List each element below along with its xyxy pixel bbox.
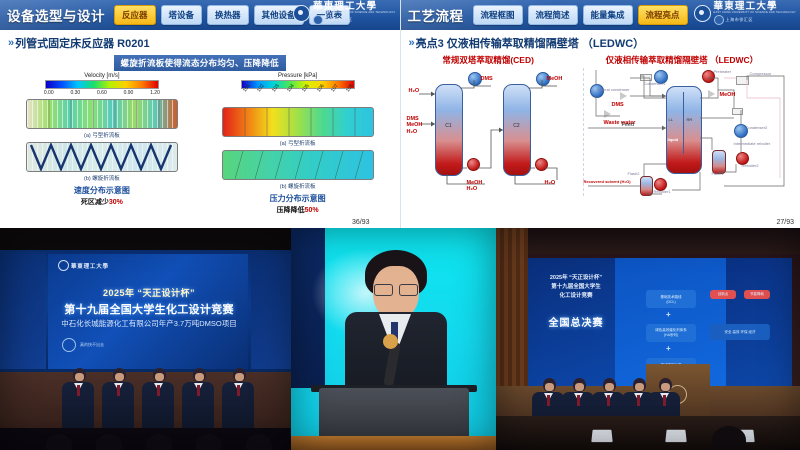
tab-reactor[interactable]: 反应器 [114, 5, 156, 25]
tab-heat-exchanger[interactable]: 换热器 [207, 5, 249, 25]
ced-bottom-2-label: H₂O [545, 180, 556, 186]
contestant [222, 368, 256, 430]
university-seal-icon [293, 5, 310, 22]
university-logo-left: 華東理工大學 EAST CHINA UNIVERSITY OF SCIENCE … [293, 2, 395, 25]
logo-badge-icon [313, 15, 323, 25]
helical-baffle-lines-b [27, 143, 177, 171]
tab-process-highlights[interactable]: 流程亮点 [638, 5, 688, 25]
ced-flowsheet: C1 C2 [405, 68, 580, 196]
ledwc-part-preheater: Preheater [714, 70, 732, 75]
ledwc-part-reboiler2: Reboiler2 [742, 164, 759, 169]
velocity-contour-a [26, 99, 178, 129]
hall-ceiling [0, 228, 291, 250]
projected-footer-text: 真的快不出去 [80, 342, 104, 348]
left-slide-title-row: » 列管式固定床反应器 R0201 [8, 35, 400, 51]
right-slide-title-row: » 亮点3 仅液相传输萃取精馏隔壁塔 （LEDWC） [409, 35, 800, 51]
velocity-tick: 0.90 [124, 90, 134, 96]
velocity-colorbar-title: Velocity [m/s] [84, 73, 119, 79]
left-slide-header: 设备选型与设计 反应器 塔设备 换热器 其他设备 一览表 華東理工大學 EAST… [0, 0, 400, 30]
ledwc-meoh-label: MeOH [720, 92, 736, 98]
ced-piping [405, 68, 580, 196]
pressure-contour-b [222, 150, 374, 180]
led-right-block-2: 节能降耗 [744, 290, 770, 299]
left-slide-title: 列管式固定床反应器 R0201 [15, 35, 149, 51]
glasses-icon [373, 284, 419, 294]
tab-process-description[interactable]: 流程简述 [528, 5, 578, 25]
projected-title-line3: 中石化长城能源化工有限公司年产3.7万吨DMSO项目 [48, 318, 250, 329]
ledwc-part-reboiler1: Reboiler1 [654, 190, 671, 195]
led-panel-right [726, 258, 792, 386]
video-center-presenter[interactable] [291, 228, 496, 450]
slides-strip: 设备选型与设计 反应器 塔设备 换热器 其他设备 一览表 華東理工大學 EAST… [0, 0, 800, 228]
contestant [62, 368, 96, 430]
ced-dms-product-label: DMS [481, 76, 493, 82]
logo-name-en: EAST CHINA UNIVERSITY OF SCIENCE AND TEC… [313, 12, 395, 15]
pressure-colorbar-ticks: 101 102 103 104 105 106 107 108 [242, 90, 354, 104]
pressure-note-text: 压降降低 [277, 207, 305, 214]
laptop [591, 430, 612, 442]
led-block-1: 基础技术路线 (DCL) [646, 290, 696, 308]
ced-bottom-1-label: MeOH H₂O [467, 180, 483, 193]
pressure-caption-b: (b) 螺旋折流板 [280, 182, 316, 190]
pressure-figure: Pressure [kPa] 101 102 103 104 105 106 1… [202, 73, 394, 215]
velocity-tick: 0.60 [97, 90, 107, 96]
right-header-tabs: 流程框图 流程简述 能量集成 流程亮点 [473, 5, 688, 25]
velocity-caption-b: (b) 螺旋折流板 [84, 174, 120, 182]
flowsheets-row: C1 C2 [401, 66, 800, 196]
left-slide-pane: 设备选型与设计 反应器 塔设备 换热器 其他设备 一览表 華東理工大學 EAST… [0, 0, 400, 228]
logo-name-en: EAST CHINA UNIVERSITY OF SCIENCE AND TEC… [714, 12, 796, 15]
led-title-lines: 2025年 “天正设计杯” 第十九届全国大学生 化工设计竞赛 [534, 274, 618, 300]
university-seal-icon [58, 260, 69, 271]
audience-silhouette [712, 426, 746, 450]
judges-desk [496, 416, 800, 450]
led-final-round-text: 全国总决赛 [534, 314, 618, 329]
velocity-figure: Velocity [m/s] 0.00 0.30 0.60 0.90 1.20 [6, 73, 198, 215]
ced-meoh-product-label: MeOH [547, 76, 563, 82]
ledwc-part-condenser2: Condenser2 [746, 126, 768, 131]
podium-base [291, 436, 496, 450]
velocity-note-text: 死区减少 [81, 199, 109, 206]
contestant [142, 368, 176, 430]
ledwc-part-lateral-condenser: Lateral condenser [598, 88, 630, 93]
tab-tower-equipment[interactable]: 塔设备 [161, 5, 203, 25]
tab-process-block-diagram[interactable]: 流程框图 [473, 5, 523, 25]
screen-side-panel-right [251, 254, 291, 369]
pressure-figure-note: 压降降低50% [277, 205, 319, 215]
velocity-colorbar [45, 80, 159, 89]
video-strip: 華東理工大學 2025年 “天正设计杯” 第十九届全国大学生化工设计竞赛 中石化… [0, 228, 800, 450]
pressure-tick: 108 [345, 83, 361, 98]
right-subheadings: 常规双塔萃取精馏(CED) 仅液相传输萃取精馏隔壁塔 （LEDWC） [401, 54, 800, 66]
baffle-lines-a [27, 100, 177, 128]
plus-icon: + [666, 344, 671, 353]
velocity-tick: 0.30 [70, 90, 80, 96]
ced-feed-water-label: H₂O [409, 88, 420, 94]
microphone-hand [383, 334, 398, 349]
audience-silhouettes [0, 428, 291, 450]
cfd-figures-row: Velocity [m/s] 0.00 0.30 0.60 0.90 1.20 [0, 71, 400, 215]
university-seal-icon [694, 5, 711, 22]
right-slide-header: 工艺流程 流程框图 流程简述 能量集成 流程亮点 華東理工大學 EAST CHI… [401, 0, 800, 30]
video-left-wide-stage[interactable]: 華東理工大學 2025年 “天正设计杯” 第十九届全国大学生化工设计竞赛 中石化… [0, 228, 291, 450]
pressure-figure-title: 压力分布示意图 [270, 193, 326, 204]
ledwc-subheading: 仅液相传输萃取精馏隔壁塔 （LEDWC） [606, 54, 759, 66]
ledwc-feed-label: Feed [622, 122, 635, 128]
logo-sub-text: 上海市徐汇区 [726, 18, 754, 22]
ced-feed-mix-label: DMS MeOH H₂O [407, 116, 423, 135]
university-logo-right: 華東理工大學 EAST CHINA UNIVERSITY OF SCIENCE … [694, 2, 796, 25]
chevron-right-icon: » [8, 37, 12, 49]
right-page-number: 27/93 [776, 219, 794, 226]
laptop [665, 430, 686, 442]
projected-title-line2: 第十九届全国大学生化工设计竞赛 [48, 301, 250, 317]
hall-ceiling [496, 228, 800, 254]
velocity-tick: 1.20 [150, 90, 160, 96]
chevron-right-icon: » [409, 37, 413, 49]
pressure-note-value: 50% [305, 207, 319, 214]
sponsor-badge-icon [62, 338, 76, 352]
ledwc-recovered-solvent-label: Recovered solvent (H₂O) [584, 180, 631, 185]
projected-slide-logo: 華東理工大學 [58, 260, 109, 271]
projected-logo-text: 華東理工大學 [71, 262, 109, 270]
ledwc-flowsheet: LL RR liquid [583, 68, 796, 196]
velocity-note-value: 30% [109, 199, 123, 206]
tab-energy-integration[interactable]: 能量集成 [583, 5, 633, 25]
ledwc-part-compressor: Compressor [750, 72, 772, 77]
velocity-contour-b [26, 142, 178, 172]
logo-badge-icon [714, 15, 724, 25]
contestant [182, 368, 216, 430]
led-right-block-3: 安全 高效 环保 经济 [710, 324, 770, 340]
plus-icon: + [666, 310, 671, 319]
pressure-contour-a [222, 107, 374, 137]
contestant [102, 368, 136, 430]
right-slide-pane: 工艺流程 流程框图 流程简述 能量集成 流程亮点 華東理工大學 EAST CHI… [400, 0, 800, 228]
projected-slide-footer: 真的快不出去 [62, 338, 104, 352]
right-header-title: 工艺流程 [408, 5, 464, 25]
velocity-figure-note: 死区减少30% [81, 197, 123, 207]
ledwc-part-condenser1: Condenser1 [644, 82, 666, 87]
logo-sub-text: 上海市徐汇区 [325, 18, 353, 22]
velocity-tick: 0.00 [44, 90, 54, 96]
led-block-2: 绿色高效催化剂体系 (HA系列) [646, 324, 696, 342]
right-slide-title: 亮点3 仅液相传输萃取精馏隔壁塔 （LEDWC） [416, 35, 645, 51]
left-header-title: 设备选型与设计 [7, 5, 105, 25]
led-right-block-1: 创新点 [710, 290, 736, 299]
ledwc-part-flash1: Flash1 [712, 172, 724, 177]
left-slide-banner: 螺旋折流板使得流态分布均匀、压降降低 [114, 55, 286, 71]
ledwc-dms-label: DMS [612, 102, 624, 108]
pressure-colorbar-title: Pressure [kPa] [278, 73, 317, 79]
screen-side-panel-left [0, 254, 46, 369]
velocity-caption-a: (a) 弓型折流板 [84, 131, 120, 139]
velocity-figure-title: 速度分布示意图 [74, 185, 130, 196]
video-right-led-wall[interactable]: 2025年 “天正设计杯” 第十九届全国大学生 化工设计竞赛 全国总决赛 基础技… [496, 228, 800, 450]
baffle-lines-pa [223, 108, 373, 136]
left-page-number: 36/93 [352, 219, 370, 226]
velocity-colorbar-ticks: 0.00 0.30 0.60 0.90 1.20 [44, 90, 160, 96]
presentation-screen: 设备选型与设计 反应器 塔设备 换热器 其他设备 一览表 華東理工大學 EAST… [0, 0, 800, 450]
ced-subheading: 常规双塔萃取精馏(CED) [442, 54, 534, 66]
pressure-caption-a: (a) 弓型折流板 [280, 139, 316, 147]
ledwc-part-flash2: Flash2 [628, 172, 640, 177]
ledwc-part-intermediate-reboiler: Intermediate reboiler [734, 142, 771, 147]
helical-lines-pb [223, 151, 373, 179]
projected-title-line1: 2025年 “天正设计杯” [56, 286, 242, 299]
